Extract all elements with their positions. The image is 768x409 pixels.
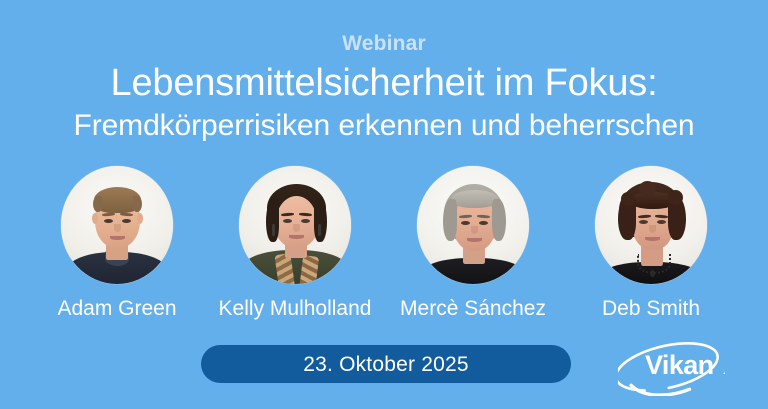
page-title-line1: Lebensmittelsicherheit im Fokus: bbox=[0, 64, 768, 104]
speaker-name: Adam Green bbox=[57, 298, 176, 319]
portrait-photo-merce-sanchez bbox=[417, 166, 529, 284]
speaker-item: Adam Green bbox=[61, 166, 173, 319]
speaker-name: Deb Smith bbox=[602, 298, 700, 319]
speaker-list: Adam Green bbox=[0, 166, 768, 319]
banner-header: Webinar Lebensmittelsicherheit im Fokus:… bbox=[0, 0, 768, 142]
avatar bbox=[61, 166, 173, 284]
speaker-item: Mercè Sánchez bbox=[417, 166, 529, 319]
speaker-name: Kelly Mulholland bbox=[219, 298, 372, 319]
date-badge-text: 23. Oktober 2025 bbox=[303, 354, 468, 375]
eyebrow-label: Webinar bbox=[0, 33, 768, 54]
vikan-logo: Vikan . bbox=[618, 334, 758, 396]
speaker-item: Deb Smith bbox=[595, 166, 707, 319]
avatar bbox=[595, 166, 707, 284]
avatar bbox=[239, 166, 351, 284]
speaker-item: Kelly Mulholland bbox=[239, 166, 351, 319]
date-badge: 23. Oktober 2025 bbox=[201, 345, 571, 383]
logo-trademark-icon: . bbox=[723, 366, 726, 376]
logo-wordmark: Vikan bbox=[645, 350, 714, 380]
portrait-photo-deb-smith bbox=[595, 166, 707, 284]
webinar-banner: Webinar Lebensmittelsicherheit im Fokus:… bbox=[0, 0, 768, 409]
portrait-photo-adam-green bbox=[61, 166, 173, 284]
avatar bbox=[417, 166, 529, 284]
page-title-line2: Fremdkörperrisiken erkennen und beherrsc… bbox=[0, 109, 768, 142]
vikan-logo-svg: Vikan . bbox=[618, 334, 758, 396]
speaker-name: Mercè Sánchez bbox=[400, 298, 546, 319]
portrait-photo-kelly-mulholland bbox=[239, 166, 351, 284]
